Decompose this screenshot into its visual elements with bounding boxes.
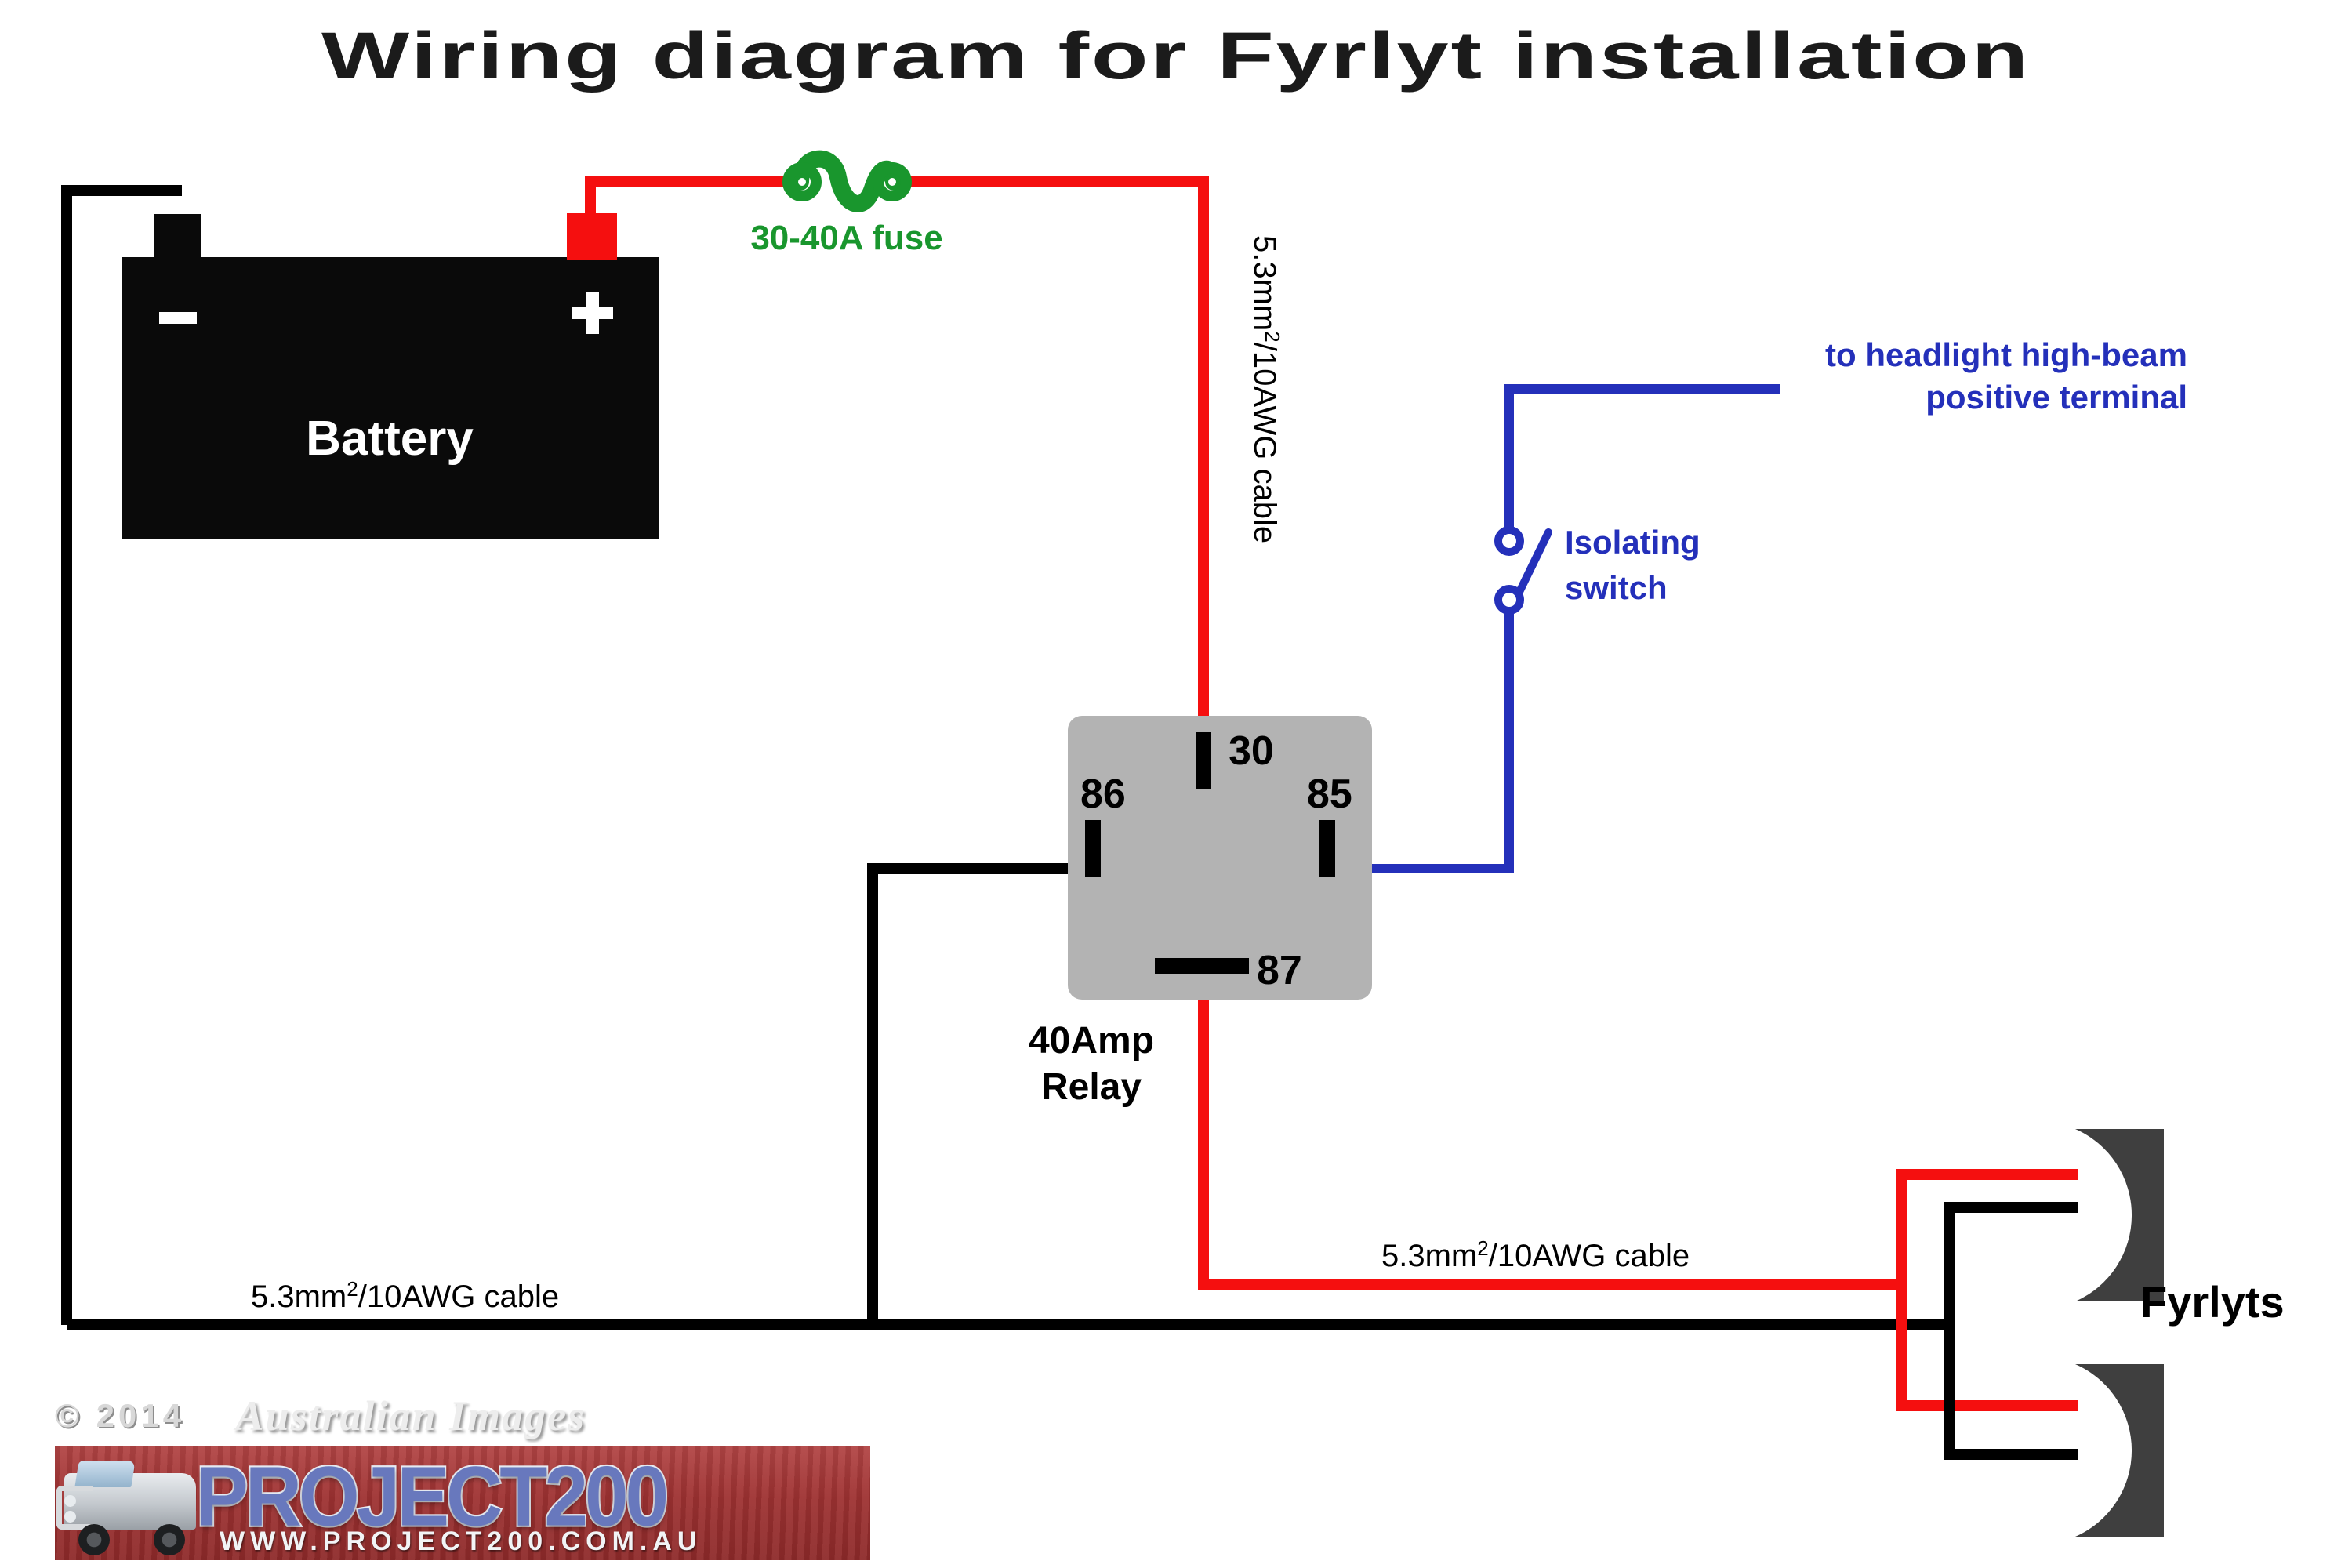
relay-pin-30-label: 30 bbox=[1229, 728, 1274, 774]
wiring-diagram-page: Wiring diagram for Fyrlyt installation B… bbox=[0, 0, 2352, 1568]
isolating-switch-label-line1: Isolating bbox=[1565, 524, 1700, 561]
studio-name: Australian Images bbox=[236, 1392, 586, 1439]
battery-minus-icon bbox=[159, 312, 197, 324]
relay-pin-86-label: 86 bbox=[1080, 771, 1126, 817]
fuse-squiggle-icon bbox=[788, 159, 906, 204]
cable-label-lamp-run-suffix: /10AWG cable bbox=[1489, 1239, 1690, 1273]
relay-pin-86 bbox=[1085, 820, 1101, 877]
positive-wire-fuse-to-relay-30 bbox=[894, 182, 1203, 741]
project200-url[interactable]: WWW.PROJECT200.COM.AU bbox=[220, 1526, 702, 1557]
watermark: © 2014 Australian Images PROJECT200 WWW.… bbox=[55, 1392, 894, 1560]
wiring-diagram-canvas: Wiring diagram for Fyrlyt installation B… bbox=[0, 0, 2352, 1568]
cable-label-vertical-sup: 2 bbox=[1261, 331, 1284, 342]
isolating-switch[interactable] bbox=[1498, 530, 1548, 611]
positive-wire-to-lamp-bottom bbox=[1901, 1284, 2078, 1406]
svg-text:5.3mm2/10AWG cable: 5.3mm2/10AWG cable bbox=[1247, 235, 1284, 543]
relay-pin-85 bbox=[1319, 820, 1335, 877]
fyrlyts-label: Fyrlyts bbox=[2140, 1277, 2285, 1327]
positive-wire-to-lamp-top bbox=[1901, 1174, 2078, 1284]
headlight-note-line1: to headlight high-beam bbox=[1825, 336, 2187, 373]
cable-label-lamp-run-prefix: 5.3mm bbox=[1381, 1239, 1477, 1273]
vehicle-photo-icon bbox=[55, 1451, 208, 1560]
cable-label-lamp-run-sup: 2 bbox=[1477, 1236, 1488, 1260]
cable-label-lamp-run: 5.3mm2/10AWG cable bbox=[1381, 1236, 1690, 1273]
ground-wire-to-lamp-bottom bbox=[1950, 1325, 2078, 1454]
battery-body bbox=[122, 257, 659, 539]
relay-label-line1: 40Amp bbox=[1029, 1020, 1154, 1062]
page-title: Wiring diagram for Fyrlyt installation bbox=[321, 19, 2031, 93]
relay-pin-87 bbox=[1155, 958, 1249, 974]
fyrlyt-lamp-bottom bbox=[2075, 1364, 2164, 1537]
headlight-note-line2: positive terminal bbox=[1926, 379, 2187, 416]
cable-label-ground-run: 5.3mm2/10AWG cable bbox=[251, 1277, 559, 1314]
cable-label-vertical-prefix: 5.3mm bbox=[1247, 235, 1282, 331]
battery-positive-post bbox=[567, 213, 617, 260]
cable-label-ground-run-sup: 2 bbox=[347, 1277, 358, 1301]
cable-label-vertical-suffix: /10AWG cable bbox=[1247, 343, 1282, 543]
fyrlyt-lamp-top bbox=[2075, 1129, 2164, 1301]
relay-pin-87-label: 87 bbox=[1257, 948, 1302, 993]
relay-pin-30 bbox=[1196, 732, 1211, 789]
relay: 30 86 85 87 bbox=[1068, 716, 1372, 1000]
relay-pin-85-label: 85 bbox=[1307, 771, 1352, 817]
isolating-switch-label-line2: switch bbox=[1565, 569, 1668, 606]
battery: Battery bbox=[122, 213, 659, 539]
project200-logo-banner[interactable]: PROJECT200 WWW.PROJECT200.COM.AU bbox=[55, 1446, 870, 1560]
relay-label-line2: Relay bbox=[1041, 1066, 1142, 1108]
cable-label-ground-run-suffix: /10AWG cable bbox=[358, 1279, 559, 1314]
trigger-wire-headlight-to-switch bbox=[1509, 389, 1780, 546]
cable-label-ground-run-prefix: 5.3mm bbox=[251, 1279, 347, 1314]
ground-wire-to-lamp-top bbox=[1925, 1207, 2078, 1325]
switch-pole-top[interactable] bbox=[1498, 530, 1520, 552]
cable-label-vertical: 5.3mm2/10AWG cable bbox=[1247, 235, 1284, 543]
copyright-text: © 2014 bbox=[55, 1397, 185, 1434]
battery-label: Battery bbox=[306, 412, 474, 466]
battery-negative-post bbox=[154, 214, 201, 260]
copyright-line: © 2014 Australian Images bbox=[55, 1392, 894, 1439]
fuse-label: 30-40A fuse bbox=[750, 219, 942, 257]
